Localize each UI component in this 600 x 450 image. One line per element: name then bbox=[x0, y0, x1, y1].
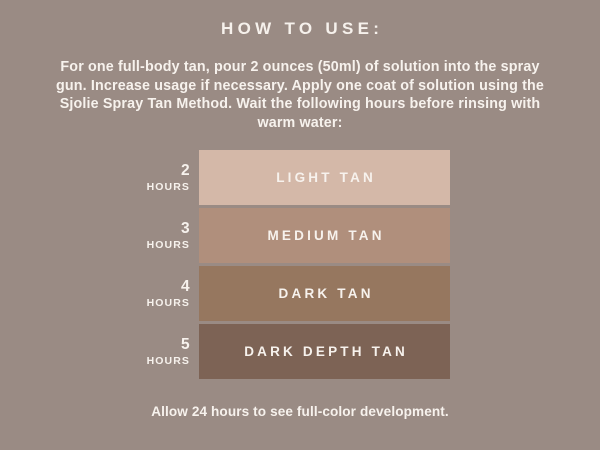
hours-unit: HOURS bbox=[145, 298, 190, 309]
shade-row-medium-tan: 3 HOURS MEDIUM TAN bbox=[0, 208, 600, 263]
shade-row-dark-depth-tan: 5 HOURS DARK DEPTH TAN bbox=[0, 324, 600, 379]
shade-row-dark-tan: 4 HOURS DARK TAN bbox=[0, 266, 600, 321]
swatch-label: MEDIUM TAN bbox=[264, 228, 384, 243]
color-swatch-dark-tan: DARK TAN bbox=[199, 266, 450, 321]
hours-unit: HOURS bbox=[145, 240, 190, 251]
swatch-label: LIGHT TAN bbox=[273, 170, 376, 185]
hours-label-medium-tan: 3 HOURS bbox=[0, 208, 190, 263]
hours-unit: HOURS bbox=[145, 182, 190, 193]
development-note: Allow 24 hours to see full-color develop… bbox=[0, 404, 600, 419]
page-title: HOW TO USE: bbox=[0, 19, 600, 39]
instructions-paragraph: For one full-body tan, pour 2 ounces (50… bbox=[45, 58, 555, 132]
hours-label-dark-depth-tan: 5 HOURS bbox=[0, 324, 190, 379]
hours-number: 4 bbox=[181, 279, 190, 295]
shade-row-light-tan: 2 HOURS LIGHT TAN bbox=[0, 150, 600, 205]
hours-number: 5 bbox=[181, 337, 190, 353]
hours-number: 2 bbox=[181, 163, 190, 179]
swatch-label: DARK TAN bbox=[275, 286, 373, 301]
hours-label-dark-tan: 4 HOURS bbox=[0, 266, 190, 321]
swatch-label: DARK DEPTH TAN bbox=[241, 344, 408, 359]
hours-number: 3 bbox=[181, 221, 190, 237]
color-swatch-dark-depth-tan: DARK DEPTH TAN bbox=[199, 324, 450, 379]
shade-list: 2 HOURS LIGHT TAN 3 HOURS MEDIUM TAN 4 H… bbox=[0, 150, 600, 382]
hours-unit: HOURS bbox=[145, 356, 190, 367]
hours-label-light-tan: 2 HOURS bbox=[0, 150, 190, 205]
color-swatch-medium-tan: MEDIUM TAN bbox=[199, 208, 450, 263]
instructions-poster: HOW TO USE: For one full-body tan, pour … bbox=[0, 0, 600, 450]
color-swatch-light-tan: LIGHT TAN bbox=[199, 150, 450, 205]
